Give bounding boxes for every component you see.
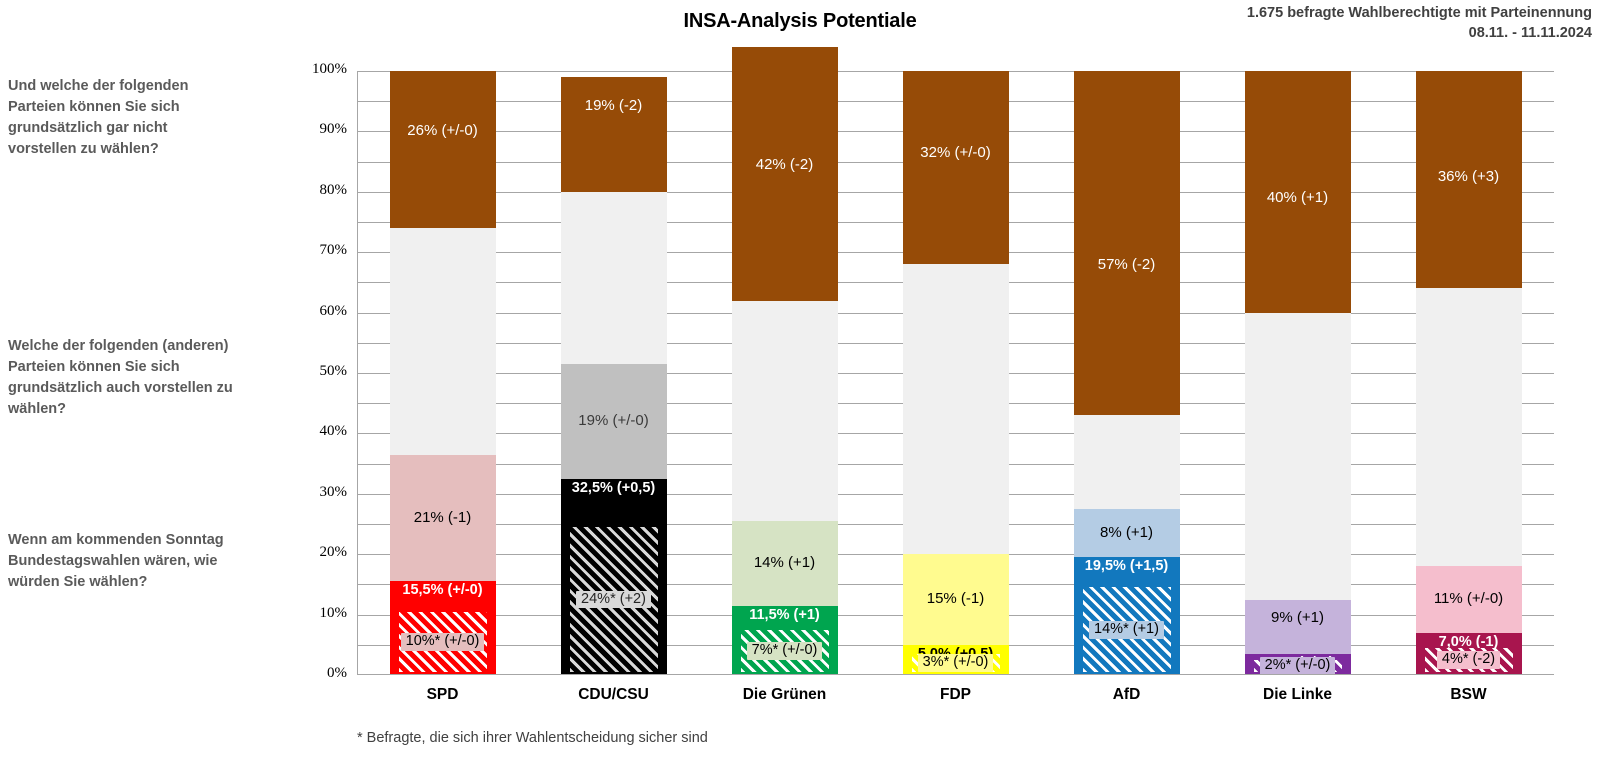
segment-sure-label: 4%* (-2) — [1437, 651, 1500, 669]
segment-could: 11% (+/-0) — [1416, 566, 1522, 632]
segment-never: 40% (+1) — [1245, 71, 1351, 313]
x-axis-line — [357, 674, 1554, 675]
segment-vote-label: 11,5% (+1) — [749, 608, 820, 624]
y-axis-tick-label: 60% — [287, 303, 347, 320]
question-text-could: Welche der folgenden (anderen) Parteien … — [8, 336, 238, 420]
segment-neutral — [1245, 313, 1351, 600]
segment-sure-hatch: 4%* (-2) — [1425, 648, 1513, 672]
segment-could-label: 21% (-1) — [414, 510, 472, 527]
segment-neutral — [561, 192, 667, 364]
segment-sure-hatch: 7%* (+/-0) — [741, 630, 829, 672]
segment-never: 19% (-2) — [561, 77, 667, 192]
segment-sure-label: 14%* (+1) — [1089, 621, 1164, 639]
x-axis-label-spd: SPD — [363, 686, 523, 704]
segment-sure-hatch: 2%* (+/-0) — [1254, 660, 1342, 672]
x-axis-label-cdu-csu: CDU/CSU — [534, 686, 694, 704]
x-axis-label-die-gr-nen: Die Grünen — [705, 686, 865, 704]
segment-never-label: 40% (+1) — [1267, 190, 1328, 207]
x-axis-label-afd: AfD — [1047, 686, 1207, 704]
segment-never-label: 57% (-2) — [1098, 257, 1156, 274]
x-axis-label-bsw: BSW — [1389, 686, 1549, 704]
segment-vote-label: 32,5% (+0,5) — [572, 481, 655, 497]
bar-die-gr-nen[interactable]: 11,5% (+1)7%* (+/-0)14% (+1)42% (-2) — [732, 71, 838, 675]
segment-never: 57% (-2) — [1074, 71, 1180, 415]
chart-plot-area: 15,5% (+/-0)10%* (+/-0)21% (-1)26% (+/-0… — [357, 71, 1554, 675]
segment-could-label: 15% (-1) — [927, 591, 985, 608]
segment-never: 26% (+/-0) — [390, 71, 496, 228]
segment-neutral — [732, 301, 838, 521]
segment-could-label: 9% (+1) — [1271, 610, 1324, 627]
y-axis-tick-label: 30% — [287, 484, 347, 501]
segment-could-label: 19% (+/-0) — [578, 413, 648, 430]
y-axis-tick-label: 90% — [287, 121, 347, 138]
segment-neutral — [903, 264, 1009, 554]
segment-could: 8% (+1) — [1074, 509, 1180, 557]
segment-sure-label: 7%* (+/-0) — [747, 642, 823, 660]
question-text-never: Und welche der folgenden Parteien können… — [8, 76, 238, 160]
survey-meta: 1.675 befragte Wahlberechtigte mit Parte… — [1072, 4, 1592, 43]
y-axis-tick-label: 10% — [287, 605, 347, 622]
segment-could-label: 8% (+1) — [1100, 525, 1153, 542]
segment-sure-hatch: 14%* (+1) — [1083, 587, 1171, 672]
segment-sure-label: 24%* (+2) — [576, 591, 651, 609]
y-axis-tick-label: 100% — [287, 61, 347, 78]
segment-could-label: 11% (+/-0) — [1434, 591, 1503, 608]
survey-respondents: 1.675 befragte Wahlberechtigte mit Parte… — [1072, 4, 1592, 24]
bar-afd[interactable]: 19,5% (+1,5)14%* (+1)8% (+1)57% (-2) — [1074, 71, 1180, 675]
x-axis-label-die-linke: Die Linke — [1218, 686, 1378, 704]
segment-neutral — [390, 228, 496, 455]
segment-could: 9% (+1) — [1245, 600, 1351, 654]
y-axis-tick-label: 80% — [287, 182, 347, 199]
segment-neutral — [1416, 288, 1522, 566]
segment-could: 14% (+1) — [732, 521, 838, 606]
segment-neutral — [1074, 415, 1180, 509]
segment-never-label: 19% (-2) — [585, 98, 643, 115]
y-axis-tick-label: 20% — [287, 544, 347, 561]
segment-vote-label: 15,5% (+/-0) — [402, 583, 482, 599]
segment-sure-hatch: 10%* (+/-0) — [399, 612, 487, 672]
segment-sure-hatch: 24%* (+2) — [570, 527, 658, 672]
segment-could: 21% (-1) — [390, 455, 496, 582]
segment-never-label: 32% (+/-0) — [920, 145, 990, 162]
y-axis-tick-label: 40% — [287, 423, 347, 440]
segment-never-label: 42% (-2) — [756, 157, 814, 174]
segment-never: 42% (-2) — [732, 47, 838, 301]
y-axis-tick-label: 0% — [287, 665, 347, 682]
bar-die-linke[interactable]: 3,5% (+/-0)2%* (+/-0)9% (+1)40% (+1) — [1245, 71, 1351, 675]
segment-sure-label: 10%* (+/-0) — [401, 633, 485, 651]
segment-never: 32% (+/-0) — [903, 71, 1009, 264]
y-axis-tick-label: 50% — [287, 363, 347, 380]
segment-never: 36% (+3) — [1416, 71, 1522, 288]
segment-could: 15% (-1) — [903, 554, 1009, 645]
segment-sure-hatch: 3%* (+/-0) — [912, 654, 1000, 672]
segment-sure-label: 3%* (+/-0) — [918, 654, 994, 672]
bar-bsw[interactable]: 7,0% (-1)4%* (-2)11% (+/-0)36% (+3) — [1416, 71, 1522, 675]
survey-dates: 08.11. - 11.11.2024 — [1072, 24, 1592, 44]
y-axis-tick-label: 70% — [287, 242, 347, 259]
segment-could: 19% (+/-0) — [561, 364, 667, 479]
segment-never-label: 36% (+3) — [1438, 169, 1499, 186]
bar-spd[interactable]: 15,5% (+/-0)10%* (+/-0)21% (-1)26% (+/-0… — [390, 71, 496, 675]
bar-fdp[interactable]: 5,0% (+0,5)3%* (+/-0)15% (-1)32% (+/-0) — [903, 71, 1009, 675]
x-axis-label-fdp: FDP — [876, 686, 1036, 704]
footnote: * Befragte, die sich ihrer Wahlentscheid… — [357, 730, 708, 746]
segment-could-label: 14% (+1) — [754, 555, 815, 572]
question-text-vote: Wenn am kommenden Sonntag Bundestagswahl… — [8, 530, 238, 593]
segment-vote-label: 19,5% (+1,5) — [1085, 559, 1168, 575]
bar-cdu-csu[interactable]: 32,5% (+0,5)24%* (+2)19% (+/-0)19% (-2) — [561, 71, 667, 675]
segment-never-label: 26% (+/-0) — [407, 123, 477, 140]
